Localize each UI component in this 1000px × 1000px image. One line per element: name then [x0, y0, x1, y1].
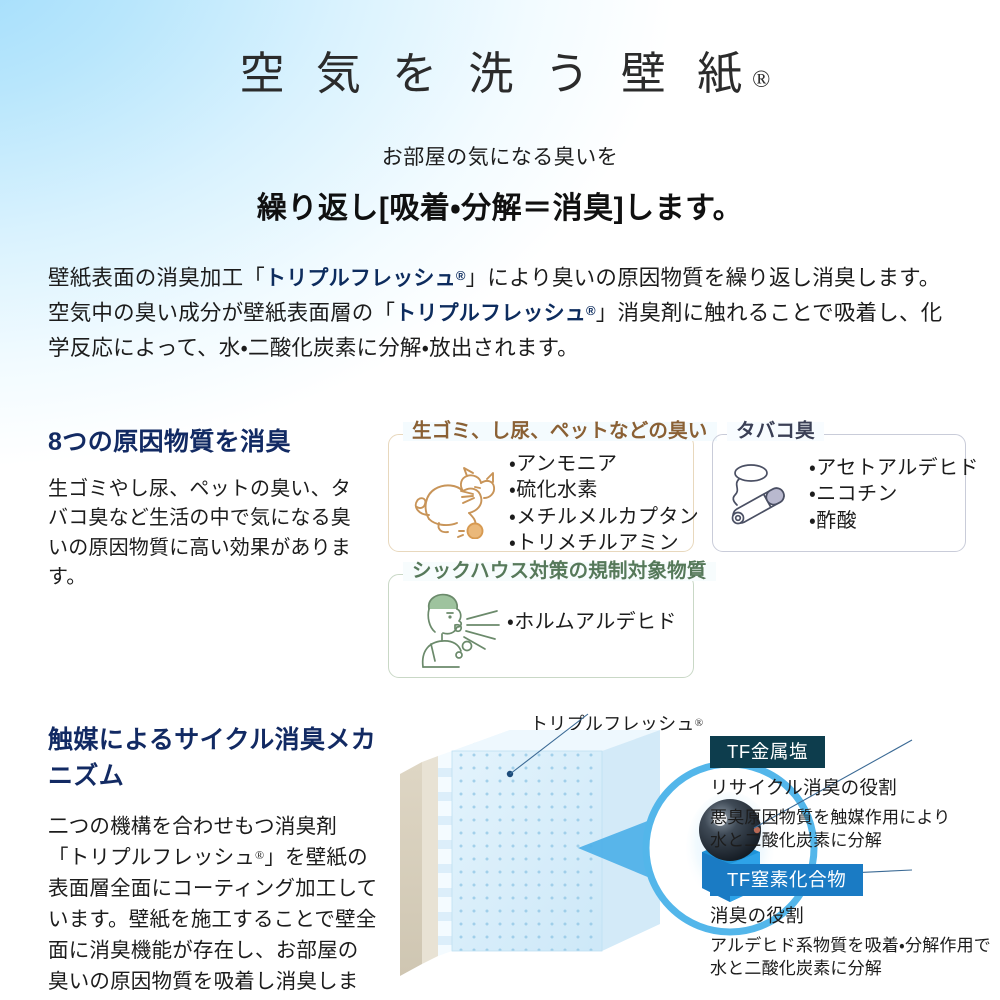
list-item: ・酢酸 — [809, 508, 979, 535]
odor-box-household: 生ゴミ、し尿、ペットなどの臭い — [388, 434, 694, 552]
callout-description: 悪臭原因物質を触媒作用により 水と二酸化炭素に分解 — [710, 806, 950, 853]
odor-box-tobacco: タバコ臭 — [712, 434, 966, 552]
list-item: ・硫化水素 — [509, 477, 699, 504]
list-item: ・アセトアルデヒド — [809, 455, 979, 482]
mechanism-body-segment-2: 」を壁紙の表面層全面にコーティング加工しています。壁紙を施工することで壁全面に消… — [48, 847, 377, 1000]
page-root: 空 気 を 洗 う 壁 紙® お部屋の気になる臭いを 繰り返し[吸着・分解＝消臭… — [0, 0, 1000, 1000]
intro-paragraph: 壁紙表面の消臭加工「トリプルフレッシュ®」により臭いの原因物質を繰り返し消臭しま… — [48, 261, 948, 366]
brand-name-1: トリプルフレッシュ® — [265, 267, 466, 290]
callout-role: 消臭の役割 — [710, 905, 991, 929]
status-badge: TF金属塩 — [710, 736, 825, 768]
registered-mark-icon: ® — [456, 268, 466, 283]
mechanism-heading: 触媒によるサイクル消臭メカニズム — [48, 720, 378, 792]
odor-section: 8つの原因物質を消臭 生ゴミやし尿、ペットの臭い、タバコ臭など生活の中で気になる… — [0, 422, 1000, 682]
odor-box-tobacco-list: ・アセトアルデヒド ・ニコチン ・酢酸 — [809, 455, 979, 535]
hero-subtitle: お部屋の気になる臭いを 繰り返し[吸着・分解＝消臭]します。 — [0, 142, 1000, 227]
odor-heading: 8つの原因物質を消臭 — [48, 422, 358, 458]
odor-text-column: 8つの原因物質を消臭 生ゴミやし尿、ペットの臭い、タバコ臭など生活の中で気になる… — [48, 422, 358, 593]
brand-text-1: トリプルフレッシュ — [265, 267, 456, 290]
callout-tf-nitrogen-compound: TF窒素化合物 消臭の役割 アルデヒド系物質を吸着・分解作用で 水と二酸化炭素に… — [710, 864, 991, 981]
callout-description-line-2: 水と二酸化炭素に分解 — [710, 959, 882, 978]
cigarette-icon — [723, 461, 807, 538]
odor-box-sickhouse-list: ・ホルムアルデヒド — [507, 609, 677, 636]
coughing-person-icon — [409, 589, 505, 676]
hero-header: 空 気 を 洗 う 壁 紙® お部屋の気になる臭いを 繰り返し[吸着・分解＝消臭… — [0, 0, 1000, 227]
odor-box-sickhouse: シックハウス対策の規制対象物質 — [388, 574, 694, 678]
mechanism-figure: トリプルフレッシュ® 消臭剤 — [392, 712, 992, 1000]
brand-text-2: トリプルフレッシュ — [395, 302, 586, 325]
subtitle-line-1: お部屋の気になる臭いを — [0, 142, 1000, 174]
brand-name-2: トリプルフレッシュ® — [395, 302, 596, 325]
mechanism-body-text: 二つの機構を合わせもつ消臭剤「トリプルフレッシュ®」を壁紙の表面層全面にコーティ… — [48, 812, 378, 1000]
callout-description-line-1: 悪臭原因物質を触媒作用により — [710, 808, 950, 827]
list-item: ・トリメチルアミン — [509, 530, 699, 557]
registered-mark-icon: ® — [255, 848, 264, 862]
callout-role: リサイクル消臭の役割 — [710, 777, 950, 801]
callout-description-line-2: 水と二酸化炭素に分解 — [710, 831, 882, 850]
odor-body-text: 生ゴミやし尿、ペットの臭い、タバコ臭など生活の中で気になる臭いの原因物質に高い効… — [48, 475, 358, 593]
callout-description-line-1: アルデヒド系物質を吸着・分解作用で — [710, 936, 991, 955]
subtitle-line-2: 繰り返し[吸着・分解＝消臭]します。 — [0, 183, 1000, 227]
mechanism-section: 触媒によるサイクル消臭メカニズム 二つの機構を合わせもつ消臭剤「トリプルフレッシ… — [0, 720, 1000, 1000]
status-badge: TF窒素化合物 — [710, 864, 863, 896]
cat-icon — [401, 461, 505, 544]
intro-segment-1: 壁紙表面の消臭加工「 — [48, 266, 265, 290]
list-item: ・ホルムアルデヒド — [507, 609, 677, 636]
registered-mark-icon: ® — [752, 67, 770, 93]
page-title-text: 空 気 を 洗 う 壁 紙 — [240, 49, 753, 99]
list-item: ・メチルメルカプタン — [509, 504, 699, 531]
callout-tf-metal-salt: TF金属塩 リサイクル消臭の役割 悪臭原因物質を触媒作用により 水と二酸化炭素に… — [710, 736, 950, 853]
odor-box-household-title: 生ゴミ、し尿、ペットなどの臭い — [403, 422, 717, 442]
odor-box-tobacco-title: タバコ臭 — [727, 422, 824, 442]
odor-box-household-list: ・アンモニア ・硫化水素 ・メチルメルカプタン ・トリメチルアミン — [509, 451, 699, 557]
registered-mark-icon: ® — [586, 303, 596, 318]
page-title: 空 気 を 洗 う 壁 紙® — [0, 46, 1000, 102]
list-item: ・アンモニア — [509, 451, 699, 478]
callout-description: アルデヒド系物質を吸着・分解作用で 水と二酸化炭素に分解 — [710, 934, 991, 981]
list-item: ・ニコチン — [809, 481, 979, 508]
mechanism-text-column: 触媒によるサイクル消臭メカニズム 二つの機構を合わせもつ消臭剤「トリプルフレッシ… — [48, 720, 378, 1000]
odor-box-sickhouse-title: シックハウス対策の規制対象物質 — [403, 562, 716, 582]
